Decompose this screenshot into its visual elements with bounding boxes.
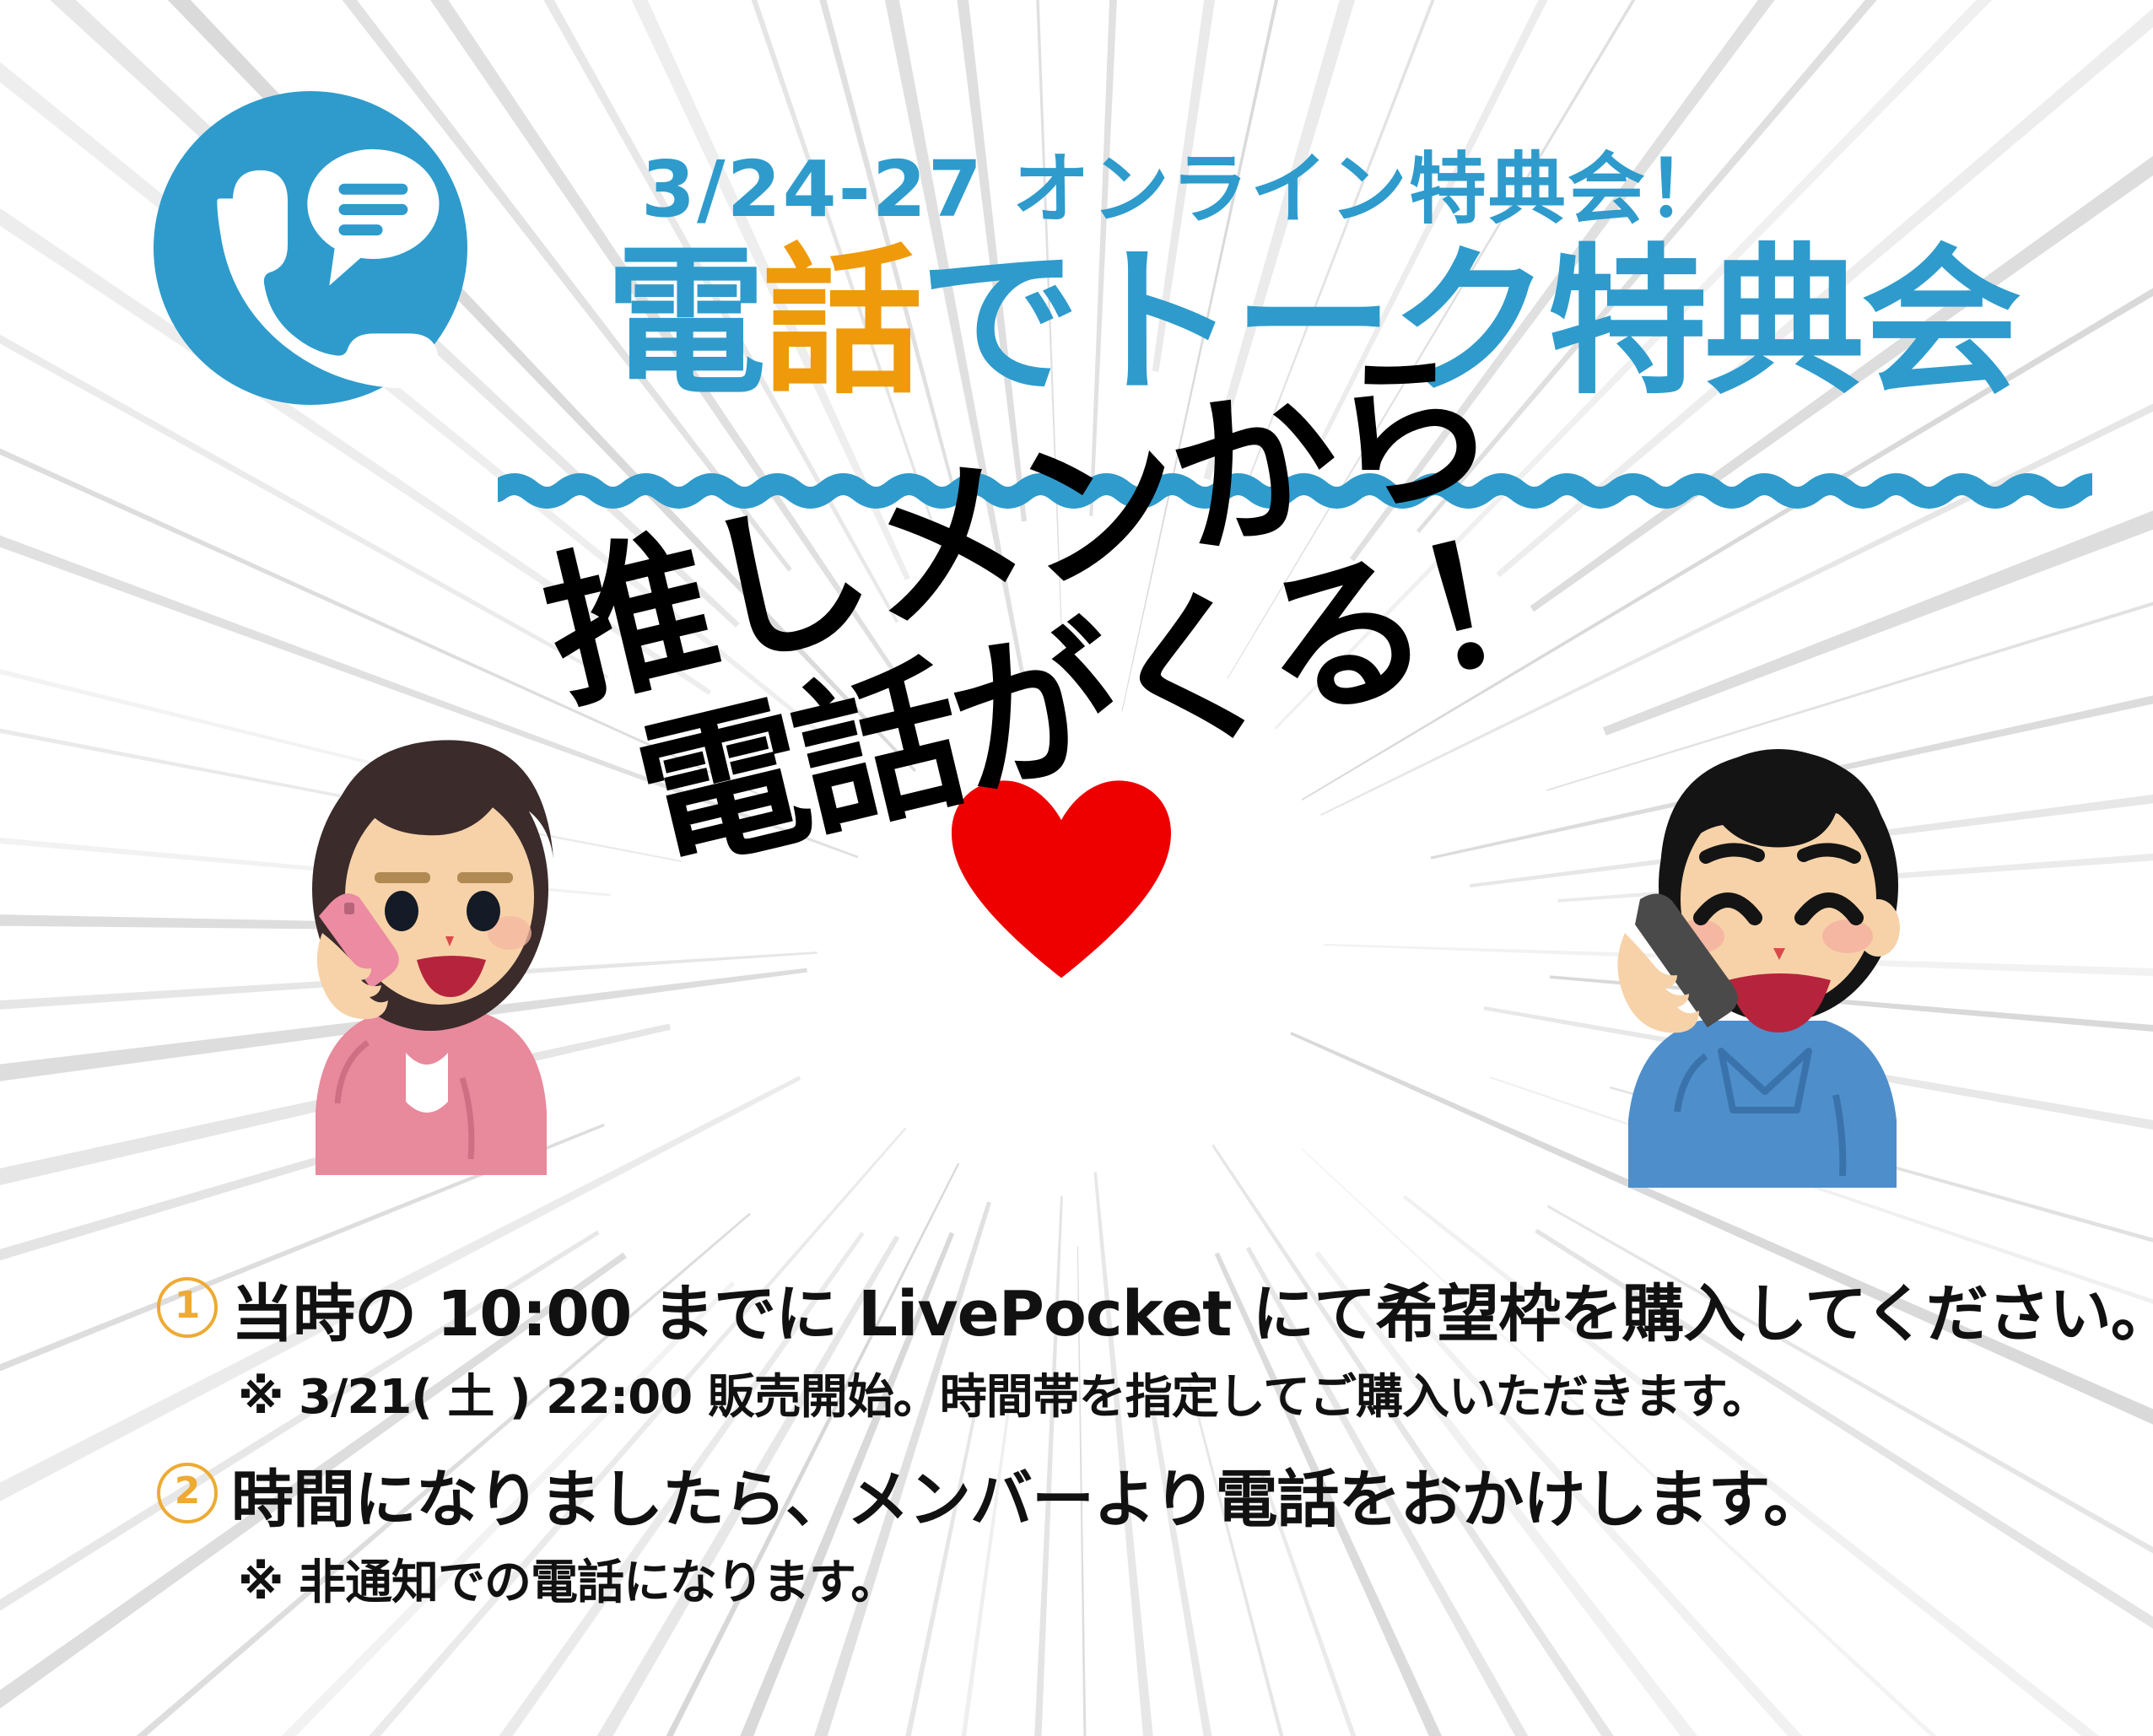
man-eyebrow-right [1804, 849, 1854, 857]
step-row-2: 2 時間になりましたら、メンバーより電話をおかけします。 [157, 1449, 2097, 1539]
bubble-line-3 [338, 224, 382, 235]
woman-eye-left [385, 891, 418, 931]
woman-phone-speaker [344, 903, 354, 914]
woman-eyebrow-right [457, 872, 513, 883]
phone-chat-logo [154, 91, 467, 405]
woman-eye-right [467, 891, 500, 931]
event-date-header: 3/24-27 オンライン特典会！ [641, 127, 1726, 239]
woman-eyebrow-left [375, 872, 430, 883]
bubble-line-2 [338, 204, 407, 215]
poster-canvas: 3/24-27 オンライン特典会！ 電話でトーク特典会 推しメンから 電話がくる… [0, 0, 2153, 1736]
instruction-steps: 1 当時の 10:00 までに LivePocket にて希望枠を購入してくださ… [157, 1264, 2097, 1635]
title-segment-1: 電 [606, 229, 763, 416]
title-segment-2: 話 [763, 229, 920, 416]
step-row-1: 1 当時の 10:00 までに LivePocket にて希望枠を購入してくださ… [157, 1264, 2097, 1354]
step-main-text-1: 当時の 10:00 までに LivePocket にて希望枠を購入してください。 [231, 1264, 2153, 1354]
bubble-line-1 [338, 184, 407, 195]
step-note-text-1: ※ 3/21( 土 ) 22:00 販売開始。時間帯を指定してご購入いただきます… [238, 1359, 2097, 1427]
step-number-2: 2 [157, 1463, 218, 1523]
step-number-1: 1 [157, 1277, 218, 1338]
man-eyebrow-left [1706, 849, 1758, 857]
woman-on-phone-illustration [250, 715, 612, 1175]
step-main-text-2: 時間になりましたら、メンバーより電話をおかけします。 [231, 1449, 1825, 1539]
man-cheek-right [1822, 919, 1873, 953]
step-note-text-2: ※ 非通知での電話になります。 [238, 1545, 2097, 1613]
